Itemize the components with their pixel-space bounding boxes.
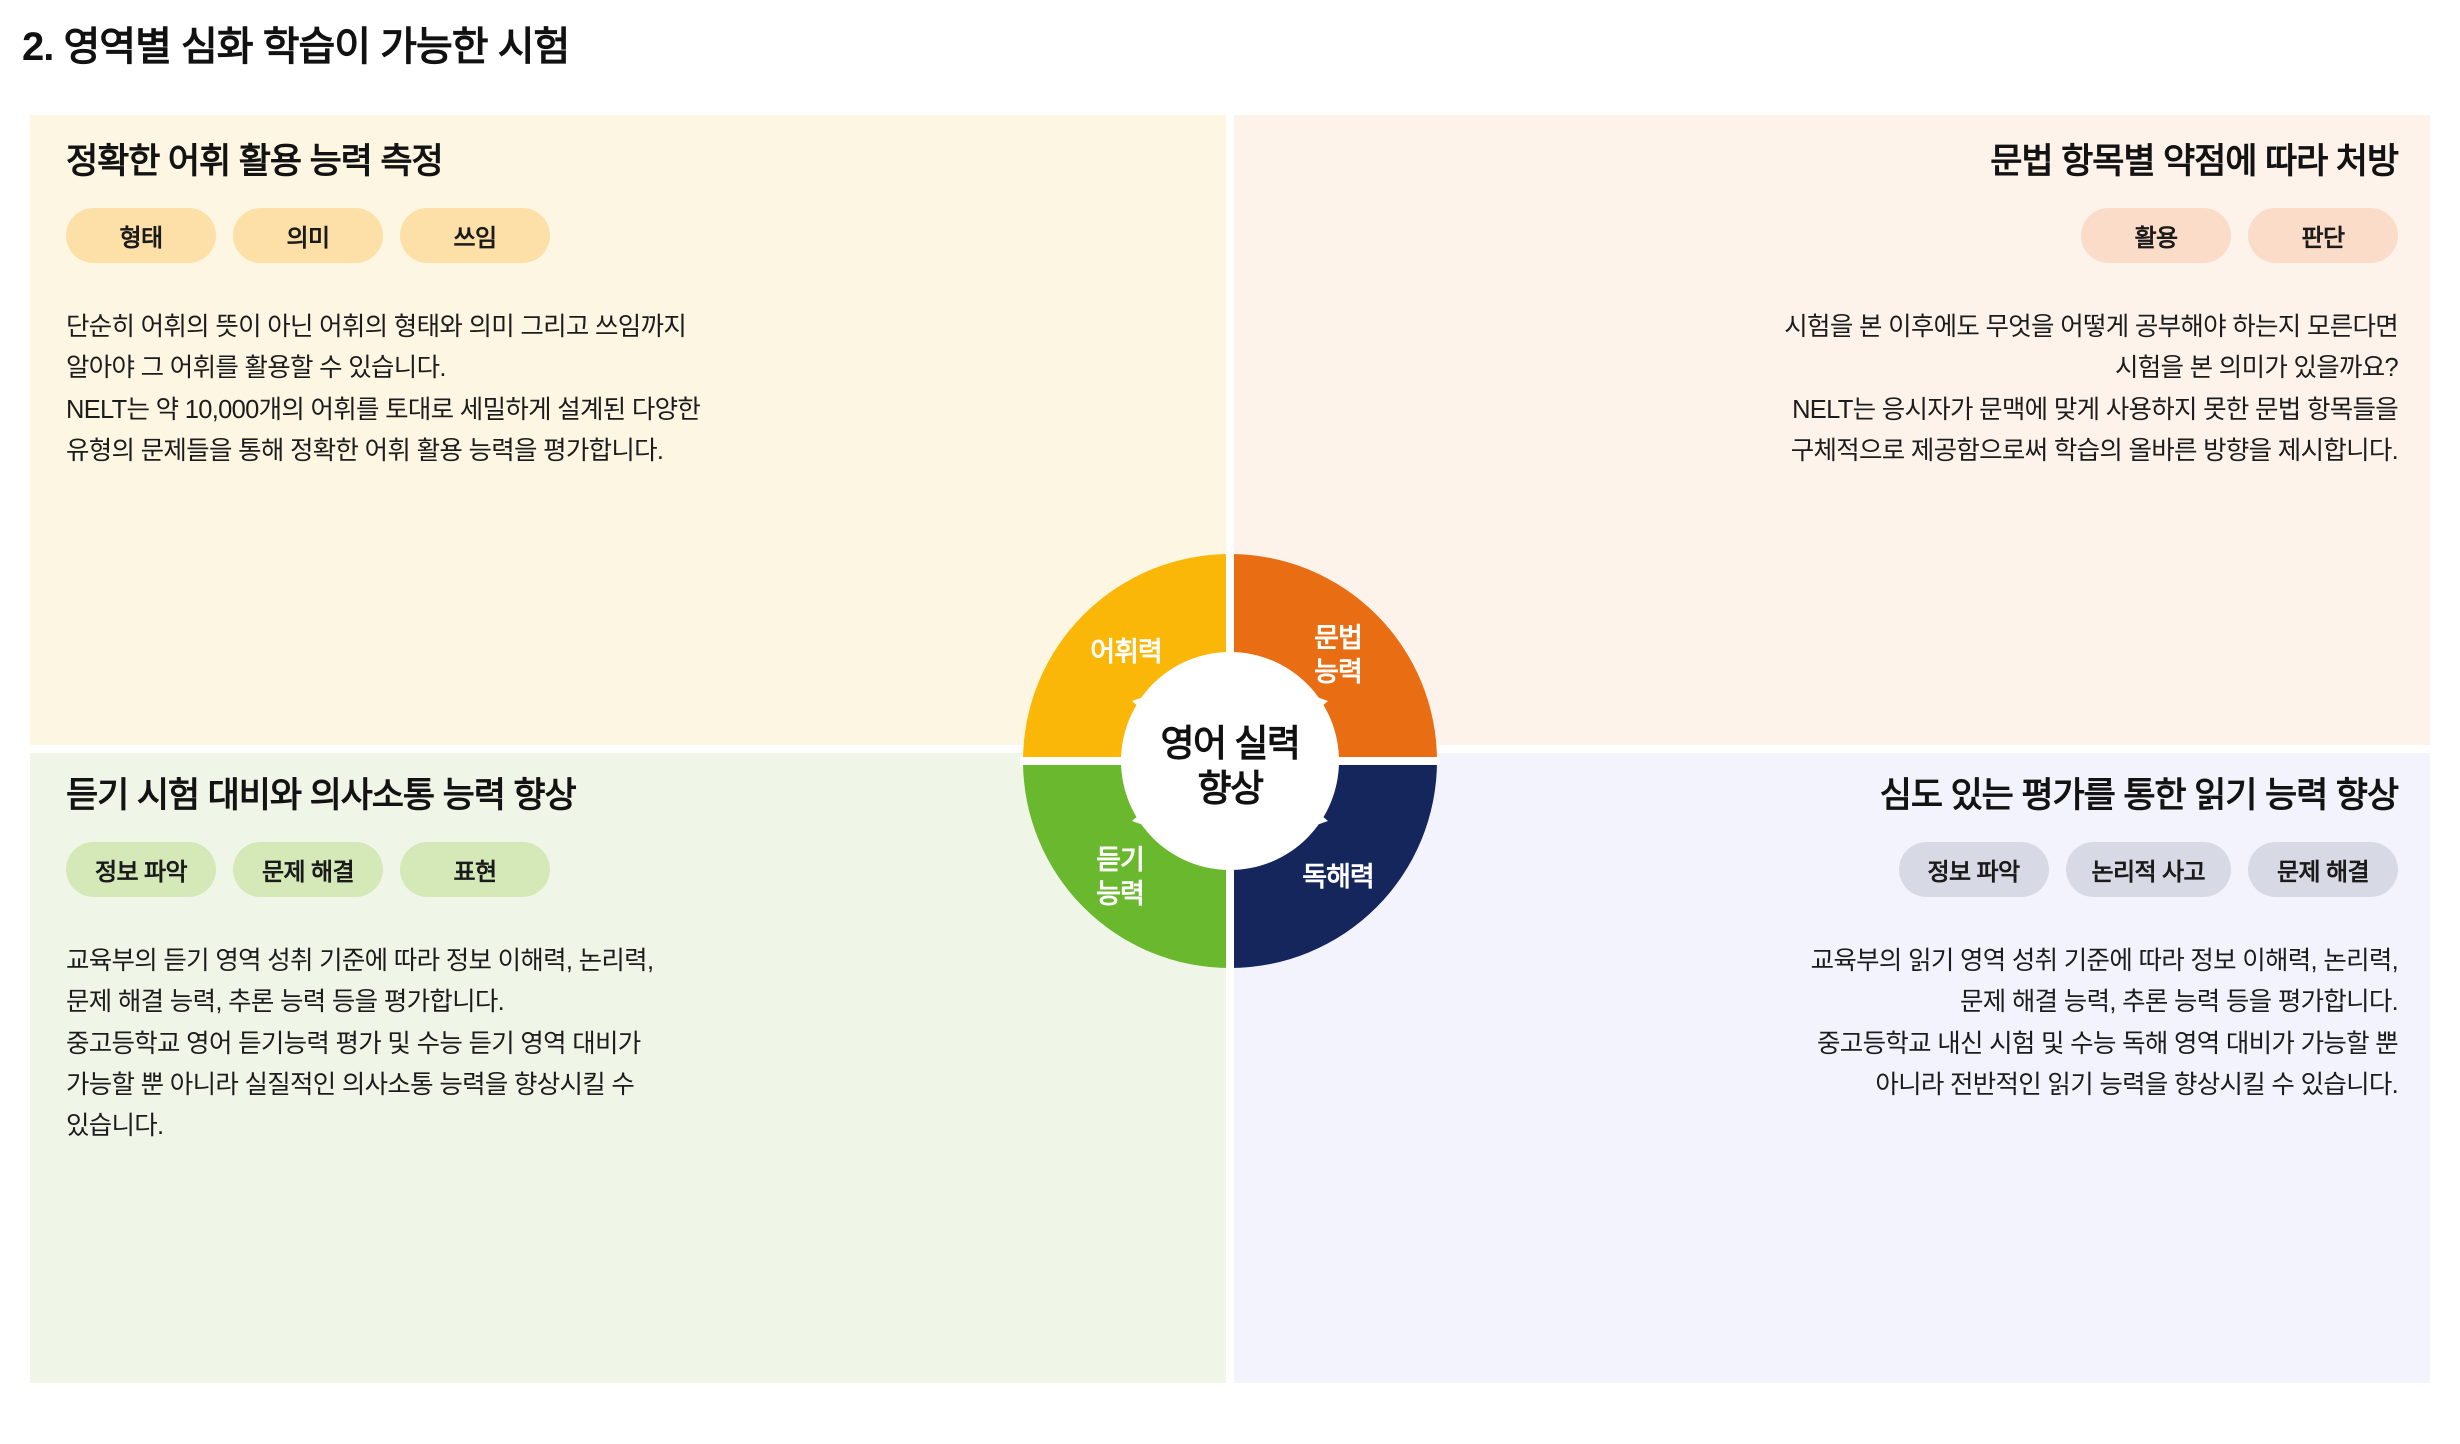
quadrant-content: 심도 있는 평가를 통한 읽기 능력 향상 정보 파악 논리적 사고 문제 해결… [1518, 775, 2398, 1106]
quadrant-listening: 듣기 시험 대비와 의사소통 능력 향상 정보 파악 문제 해결 표현 교육부의… [30, 753, 1226, 1383]
quadrant-grammar: 문법 항목별 약점에 따라 처방 활용 판단 시험을 본 이후에도 무엇을 어떻… [1234, 115, 2430, 745]
quadrant-content: 정확한 어휘 활용 능력 측정 형태 의미 쓰임 단순히 어휘의 뜻이 아닌 어… [66, 141, 946, 472]
tag-pill[interactable]: 문제 해결 [233, 842, 383, 897]
quadrant-description: 교육부의 읽기 영역 성취 기준에 따라 정보 이해력, 논리력, 문제 해결 … [1518, 941, 2398, 1106]
tag-pill[interactable]: 쓰임 [400, 208, 550, 263]
quadrant-content: 듣기 시험 대비와 의사소통 능력 향상 정보 파악 문제 해결 표현 교육부의… [66, 775, 946, 1147]
tag-list: 정보 파악 논리적 사고 문제 해결 [1518, 842, 2398, 897]
tag-pill[interactable]: 활용 [2081, 208, 2231, 263]
tag-pill[interactable]: 판단 [2248, 208, 2398, 263]
tag-pill[interactable]: 형태 [66, 208, 216, 263]
quadrant-reading: 심도 있는 평가를 통한 읽기 능력 향상 정보 파악 논리적 사고 문제 해결… [1234, 753, 2430, 1383]
quadrant-description: 단순히 어휘의 뜻이 아닌 어휘의 형태와 의미 그리고 쓰임까지 알아야 그 … [66, 307, 946, 472]
quadrant-description: 시험을 본 이후에도 무엇을 어떻게 공부해야 하는지 모른다면 시험을 본 의… [1518, 307, 2398, 472]
tag-pill[interactable]: 의미 [233, 208, 383, 263]
quadrant-heading: 정확한 어휘 활용 능력 측정 [66, 141, 946, 183]
quadrant-heading: 문법 항목별 약점에 따라 처방 [1518, 141, 2398, 183]
tag-list: 정보 파악 문제 해결 표현 [66, 842, 946, 897]
tag-list: 활용 판단 [1518, 208, 2398, 263]
tag-pill[interactable]: 문제 해결 [2248, 842, 2398, 897]
infographic-page: 2. 영역별 심화 학습이 가능한 시험 정확한 어휘 활용 능력 측정 형태 … [0, 0, 2460, 1444]
tag-pill[interactable]: 표현 [400, 842, 550, 897]
quadrant-grid: 정확한 어휘 활용 능력 측정 형태 의미 쓰임 단순히 어휘의 뜻이 아닌 어… [30, 115, 2430, 1407]
quadrant-vocabulary: 정확한 어휘 활용 능력 측정 형태 의미 쓰임 단순히 어휘의 뜻이 아닌 어… [30, 115, 1226, 745]
tag-pill[interactable]: 정보 파악 [1899, 842, 2049, 897]
tag-list: 형태 의미 쓰임 [66, 208, 946, 263]
quadrant-content: 문법 항목별 약점에 따라 처방 활용 판단 시험을 본 이후에도 무엇을 어떻… [1518, 141, 2398, 472]
page-title: 2. 영역별 심화 학습이 가능한 시험 [22, 14, 569, 72]
tag-pill[interactable]: 정보 파악 [66, 842, 216, 897]
quadrant-description: 교육부의 듣기 영역 성취 기준에 따라 정보 이해력, 논리력, 문제 해결 … [66, 941, 946, 1147]
quadrant-heading: 듣기 시험 대비와 의사소통 능력 향상 [66, 775, 946, 817]
tag-pill[interactable]: 논리적 사고 [2066, 842, 2231, 897]
quadrant-heading: 심도 있는 평가를 통한 읽기 능력 향상 [1518, 775, 2398, 817]
